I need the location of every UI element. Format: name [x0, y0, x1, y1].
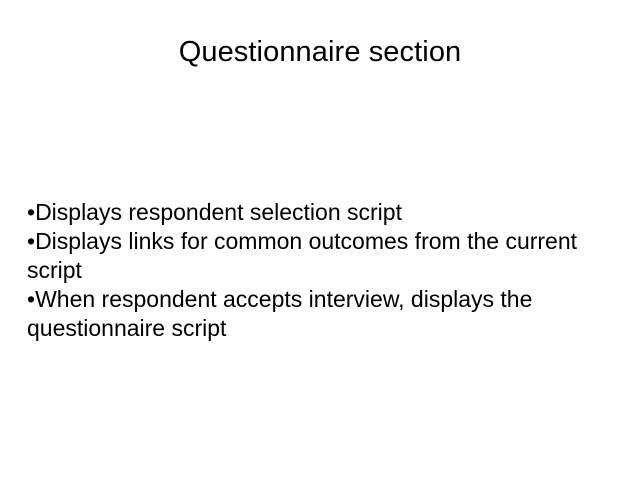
bullet-icon: • — [27, 199, 35, 225]
bullet-item: •When respondent accepts interview, disp… — [27, 285, 615, 343]
slide-body-content: •Displays respondent selection script •D… — [27, 198, 615, 343]
page-title: Questionnaire section — [179, 34, 462, 70]
slide-title-area: Questionnaire section — [0, 34, 640, 88]
bullet-icon: • — [27, 228, 35, 254]
bullet-item-text: Displays links for common outcomes from … — [27, 228, 577, 283]
bullet-item-text: Displays respondent selection script — [35, 199, 402, 225]
bullet-item-text: When respondent accepts interview, displ… — [27, 286, 532, 341]
slide-canvas: Questionnaire section •Displays responde… — [0, 0, 640, 480]
bullet-item: •Displays links for common outcomes from… — [27, 227, 615, 285]
bullet-icon: • — [27, 286, 35, 312]
bullet-item: •Displays respondent selection script — [27, 198, 615, 227]
